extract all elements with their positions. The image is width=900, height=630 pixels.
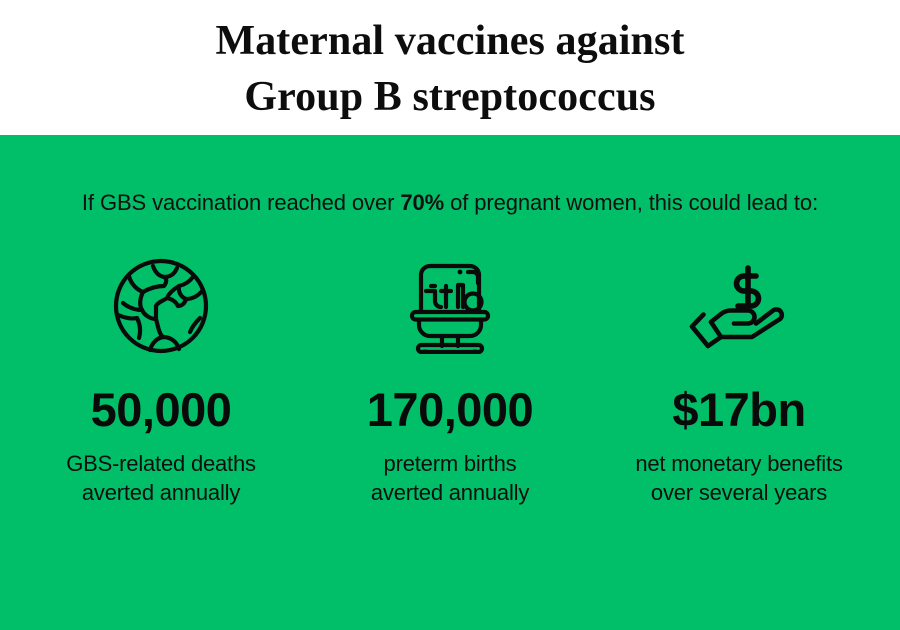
page-title-line2: Group B streptococcus	[244, 70, 655, 125]
subtitle-prefix: If GBS vaccination reached over	[82, 190, 400, 215]
hand-holding-dollar-icon	[684, 256, 794, 356]
infographic-root: Maternal vaccines against Group B strept…	[0, 0, 900, 630]
incubator-icon	[398, 256, 502, 356]
subtitle-suffix: of pregnant women, this could lead to:	[444, 190, 818, 215]
stat-card-preterm-births: 170,000 preterm births averted annually	[306, 256, 595, 507]
stat-card-deaths-averted: 50,000 GBS-related deaths averted annual…	[17, 256, 306, 507]
page-title-line1: Maternal vaccines against	[215, 14, 684, 69]
stat-label-line1: net monetary benefits	[635, 450, 842, 479]
stat-value-monetary-benefits: $17bn	[672, 386, 805, 433]
stat-label-line1: preterm births	[371, 450, 529, 479]
stat-label-deaths-averted: GBS-related deaths averted annually	[66, 450, 256, 507]
stat-value-deaths-averted: 50,000	[91, 386, 232, 433]
stat-label-line2: over several years	[635, 479, 842, 508]
subtitle-highlight-percent: 70%	[400, 190, 444, 215]
stat-label-line1: GBS-related deaths	[66, 450, 256, 479]
subtitle-container: If GBS vaccination reached over 70% of p…	[0, 135, 900, 216]
stat-label-line2: averted annually	[371, 479, 529, 508]
stat-value-preterm-births: 170,000	[367, 386, 533, 433]
stat-label-monetary-benefits: net monetary benefits over several years	[635, 450, 842, 507]
stats-row: 50,000 GBS-related deaths averted annual…	[0, 216, 900, 507]
subtitle-text: If GBS vaccination reached over 70% of p…	[0, 190, 900, 216]
header-banner: Maternal vaccines against Group B strept…	[0, 0, 900, 135]
stat-card-monetary-benefits: $17bn net monetary benefits over several…	[595, 256, 884, 507]
stat-label-preterm-births: preterm births averted annually	[371, 450, 529, 507]
globe-icon	[109, 256, 213, 356]
stat-label-line2: averted annually	[66, 479, 256, 508]
